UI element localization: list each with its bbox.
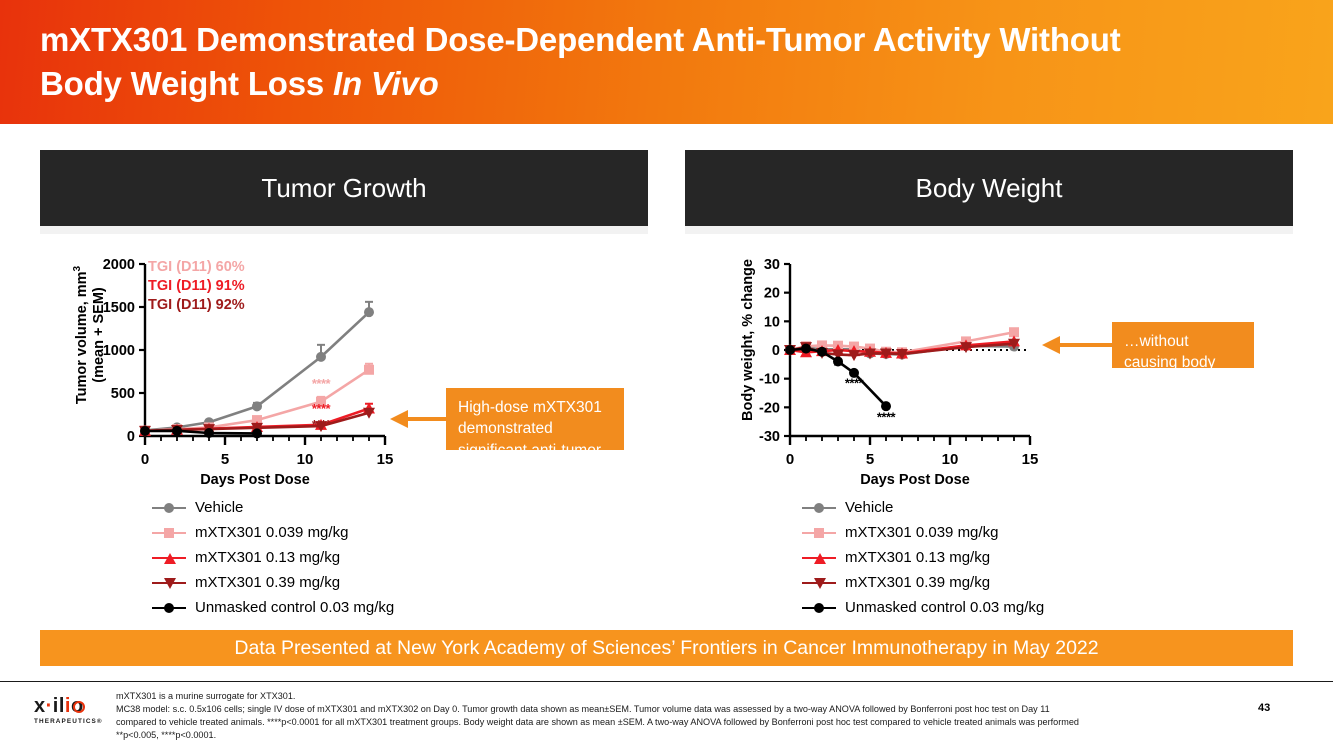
bodyweight-y-axis-title: Body weight, % change bbox=[740, 240, 757, 440]
footnote-line-4: **p<0.005, ****p<0.0001. bbox=[116, 729, 1226, 742]
x-tick-label: 10 bbox=[297, 451, 314, 468]
footnote-line-1: mXTX301 is a murine surrogate for XTX301… bbox=[116, 690, 1226, 703]
series-line bbox=[145, 431, 257, 434]
legend-marker-vehicle-icon bbox=[802, 500, 836, 516]
x-tick-label: 5 bbox=[221, 451, 229, 468]
company-logo: x·ilio THERAPEUTICS® bbox=[34, 696, 106, 730]
legend-label: mXTX301 0.13 mg/kg bbox=[195, 549, 340, 566]
legend-item: Unmasked control 0.03 mg/kg bbox=[802, 595, 1044, 620]
legend-item: Unmasked control 0.03 mg/kg bbox=[152, 595, 394, 620]
title-line-1: mXTX301 Demonstrated Dose-Dependent Anti… bbox=[40, 21, 1120, 58]
tgi-annotation-1: TGI (D11) 91% bbox=[148, 278, 245, 294]
y-tick-label: 10 bbox=[764, 314, 780, 330]
x-tick-label: 5 bbox=[866, 451, 874, 468]
plot-area: -30-20-100102030051015********** bbox=[759, 257, 1038, 468]
legend-marker-dose-mid-icon bbox=[152, 550, 186, 566]
bodyweight-callout-arrow-icon bbox=[1040, 334, 1116, 356]
data-point-marker bbox=[204, 428, 214, 438]
bodyweight-x-axis-title: Days Post Dose bbox=[790, 472, 1040, 488]
legend-item: Vehicle bbox=[802, 495, 1044, 520]
panel-header-body-weight: Body Weight bbox=[685, 150, 1293, 226]
x-tick-label: 0 bbox=[786, 451, 794, 468]
legend-label: mXTX301 0.039 mg/kg bbox=[845, 524, 998, 541]
panel-title-tumor-growth: Tumor Growth bbox=[261, 173, 426, 204]
data-point-marker bbox=[801, 344, 811, 354]
y-tick-label: 20 bbox=[764, 286, 780, 302]
footnote-line-3: compared to vehicle treated animals. ***… bbox=[116, 716, 1226, 729]
legend-label: mXTX301 0.039 mg/kg bbox=[195, 524, 348, 541]
data-point-marker bbox=[817, 347, 827, 357]
data-point-marker bbox=[364, 307, 374, 317]
legend-label: mXTX301 0.39 mg/kg bbox=[845, 574, 990, 591]
legend-item: mXTX301 0.039 mg/kg bbox=[152, 520, 394, 545]
y-tick-label: -20 bbox=[759, 400, 780, 416]
x-tick-label: 15 bbox=[1022, 451, 1039, 468]
legend-item: mXTX301 0.39 mg/kg bbox=[152, 570, 394, 595]
title-line-2-italic: In Vivo bbox=[333, 65, 439, 102]
footnote: mXTX301 is a murine surrogate for XTX301… bbox=[116, 690, 1226, 742]
title-banner: mXTX301 Demonstrated Dose-Dependent Anti… bbox=[0, 0, 1333, 124]
legend-label: Vehicle bbox=[195, 499, 243, 516]
significance-marker: **** bbox=[877, 410, 897, 425]
logo-subtext: THERAPEUTICS® bbox=[34, 718, 106, 725]
tgi-annotation-0: TGI (D11) 60% bbox=[148, 259, 245, 275]
legend-tumor-growth: Vehicle mXTX301 0.039 mg/kg mXTX301 0.13… bbox=[152, 495, 394, 620]
data-point-marker bbox=[785, 345, 795, 355]
legend-marker-dose-high-icon bbox=[802, 575, 836, 591]
legend-marker-unmasked-icon bbox=[152, 600, 186, 616]
y-tick-label: 0 bbox=[772, 343, 780, 359]
legend-label: mXTX301 0.39 mg/kg bbox=[195, 574, 340, 591]
legend-item: mXTX301 0.13 mg/kg bbox=[802, 545, 1044, 570]
plot-area: 0500100015002000051015************ bbox=[103, 257, 394, 468]
significance-marker: **** bbox=[845, 375, 865, 390]
conference-banner-text: Data Presented at New York Academy of Sc… bbox=[234, 637, 1098, 660]
x-tick-label: 0 bbox=[141, 451, 149, 468]
tgi-annotation-2: TGI (D11) 92% bbox=[148, 297, 245, 313]
legend-item: mXTX301 0.039 mg/kg bbox=[802, 520, 1044, 545]
footnote-line-2: MC38 model: s.c. 0.5x106 cells; single I… bbox=[116, 703, 1226, 716]
y-tick-label: 30 bbox=[764, 257, 780, 273]
y-tick-label: 0 bbox=[127, 429, 135, 445]
legend-marker-dose-high-icon bbox=[152, 575, 186, 591]
legend-item: Vehicle bbox=[152, 495, 394, 520]
logo-wordmark: x·ilio bbox=[34, 696, 106, 716]
page-number: 43 bbox=[1258, 702, 1270, 714]
legend-body-weight: Vehicle mXTX301 0.039 mg/kg mXTX301 0.13… bbox=[802, 495, 1044, 620]
legend-marker-vehicle-icon bbox=[152, 500, 186, 516]
significance-marker: **** bbox=[312, 401, 332, 416]
legend-marker-dose-low-icon bbox=[802, 525, 836, 541]
title-line-2: Body Weight Loss bbox=[40, 65, 333, 102]
y-tick-label: 500 bbox=[111, 386, 135, 402]
bodyweight-callout: …without causing body weight loss bbox=[1112, 322, 1254, 368]
legend-item: mXTX301 0.13 mg/kg bbox=[152, 545, 394, 570]
tumor-callout: High-dose mXTX301 demonstrated significa… bbox=[446, 388, 624, 450]
x-tick-label: 10 bbox=[942, 451, 959, 468]
significance-marker: **** bbox=[312, 417, 332, 432]
x-tick-label: 15 bbox=[377, 451, 394, 468]
panel-title-body-weight: Body Weight bbox=[916, 173, 1063, 204]
legend-marker-dose-mid-icon bbox=[802, 550, 836, 566]
tumor-callout-arrow-icon bbox=[388, 408, 454, 430]
legend-marker-dose-low-icon bbox=[152, 525, 186, 541]
y-tick-label: -10 bbox=[759, 372, 780, 388]
panel-header-tumor-growth: Tumor Growth bbox=[40, 150, 648, 226]
conference-banner: Data Presented at New York Academy of Sc… bbox=[40, 630, 1293, 666]
data-point-marker bbox=[252, 428, 262, 438]
legend-marker-unmasked-icon bbox=[802, 600, 836, 616]
data-point-marker bbox=[252, 401, 262, 411]
legend-item: mXTX301 0.39 mg/kg bbox=[802, 570, 1044, 595]
significance-marker: ** bbox=[833, 358, 844, 373]
legend-label: mXTX301 0.13 mg/kg bbox=[845, 549, 990, 566]
tumor-x-axis-title: Days Post Dose bbox=[130, 472, 380, 488]
page-title: mXTX301 Demonstrated Dose-Dependent Anti… bbox=[0, 18, 1160, 106]
data-point-marker bbox=[172, 426, 182, 436]
legend-label: Unmasked control 0.03 mg/kg bbox=[845, 599, 1044, 616]
data-point-marker bbox=[364, 365, 374, 375]
legend-label: Unmasked control 0.03 mg/kg bbox=[195, 599, 394, 616]
data-point-marker bbox=[316, 352, 326, 362]
data-point-marker bbox=[140, 426, 150, 436]
legend-label: Vehicle bbox=[845, 499, 893, 516]
y-tick-label: -30 bbox=[759, 429, 780, 445]
tumor-y-axis-title: Tumor volume, mm3(mean + SEM) bbox=[72, 240, 108, 430]
significance-marker: **** bbox=[312, 376, 332, 391]
footnote-divider bbox=[0, 681, 1333, 682]
slide-root: mXTX301 Demonstrated Dose-Dependent Anti… bbox=[0, 0, 1333, 749]
series-line bbox=[145, 312, 369, 430]
